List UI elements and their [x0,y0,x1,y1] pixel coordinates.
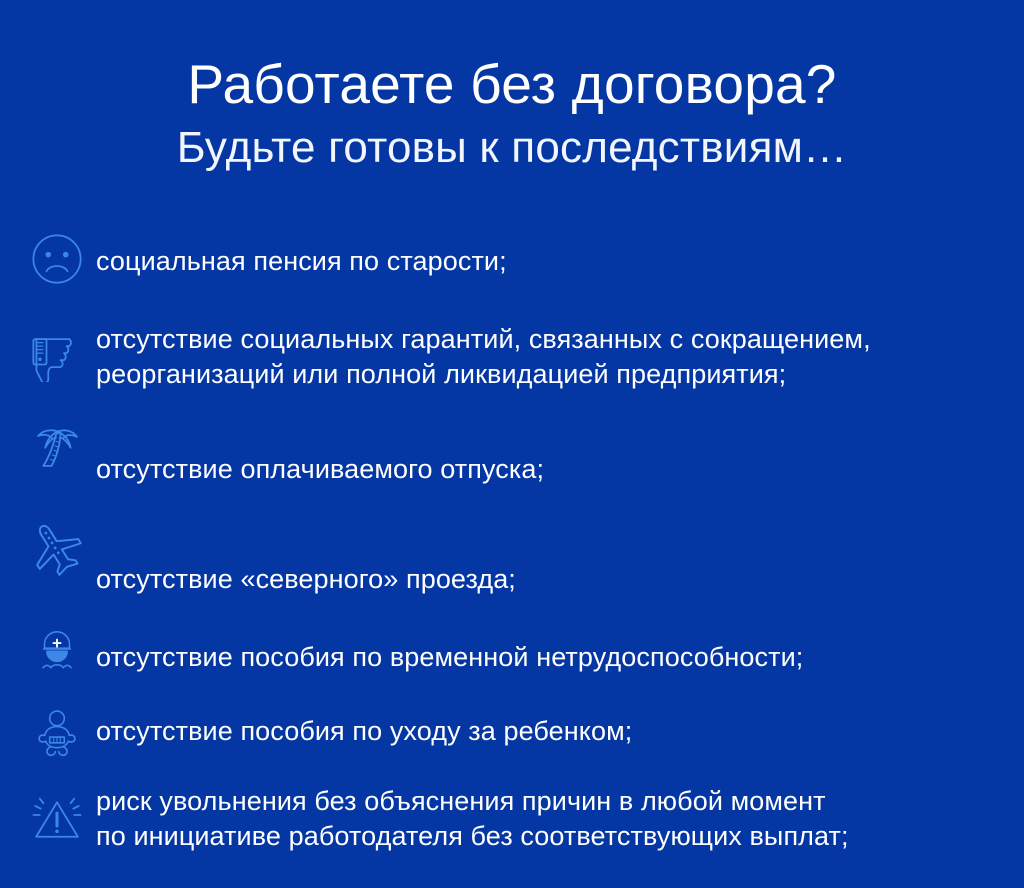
list-item: отсутствие оплачиваемого отпуска; [18,416,1000,512]
list-item-line: риск увольнения без объяснения причин в … [96,784,1000,819]
list-item-line: отсутствие оплачиваемого отпуска; [96,452,1000,487]
list-item-line: отсутствие пособия по временной нетрудос… [96,640,1000,675]
warning-triangle-icon [18,778,96,862]
heading-title: Работаете без договора? [0,56,1024,114]
list-item-line: отсутствие «северного» проезда; [96,562,1000,597]
doctor-icon [18,624,96,688]
palm-tree-icon [18,416,96,490]
list-item: социальная пенсия по старости; [18,228,1000,312]
sad-face-icon [18,228,96,290]
list-item-text: отсутствие пособия по уходу за ребенком; [96,700,1000,749]
heading-subtitle: Будьте готовы к последствиям… [0,122,1024,174]
list-item-line: отсутствие социальных гарантий, связанны… [96,322,1000,357]
list-item-text: социальная пенсия по старости; [96,228,1000,279]
list-item-text: отсутствие «северного» проезда; [96,518,1000,597]
list-item-line: по инициативе работодателя без соответст… [96,819,1000,854]
consequences-list: социальная пенсия по старости; отсутстви… [0,228,1024,880]
thumbs-down-icon [18,318,96,398]
poster-root: Работаете без договора? Будьте готовы к … [0,0,1024,888]
list-item-text: отсутствие социальных гарантий, связанны… [96,318,1000,392]
list-item-line: отсутствие пособия по уходу за ребенком; [96,714,1000,749]
list-item-text: отсутствие пособия по временной нетрудос… [96,624,1000,675]
baby-icon [18,700,96,766]
list-item-text: отсутствие оплачиваемого отпуска; [96,416,1000,487]
list-item: отсутствие «северного» проезда; [18,518,1000,618]
list-item-line: реорганизаций или полной ликвидацией пре… [96,357,1000,392]
list-item-text: риск увольнения без объяснения причин в … [96,778,1000,854]
list-item-line: социальная пенсия по старости; [96,244,1000,279]
list-item: отсутствие пособия по уходу за ребенком; [18,700,1000,772]
list-item: отсутствие социальных гарантий, связанны… [18,318,1000,410]
list-item: отсутствие пособия по временной нетрудос… [18,624,1000,694]
airplane-icon [18,518,96,598]
list-item: риск увольнения без объяснения причин в … [18,778,1000,874]
poster-heading: Работаете без договора? Будьте готовы к … [0,0,1024,174]
